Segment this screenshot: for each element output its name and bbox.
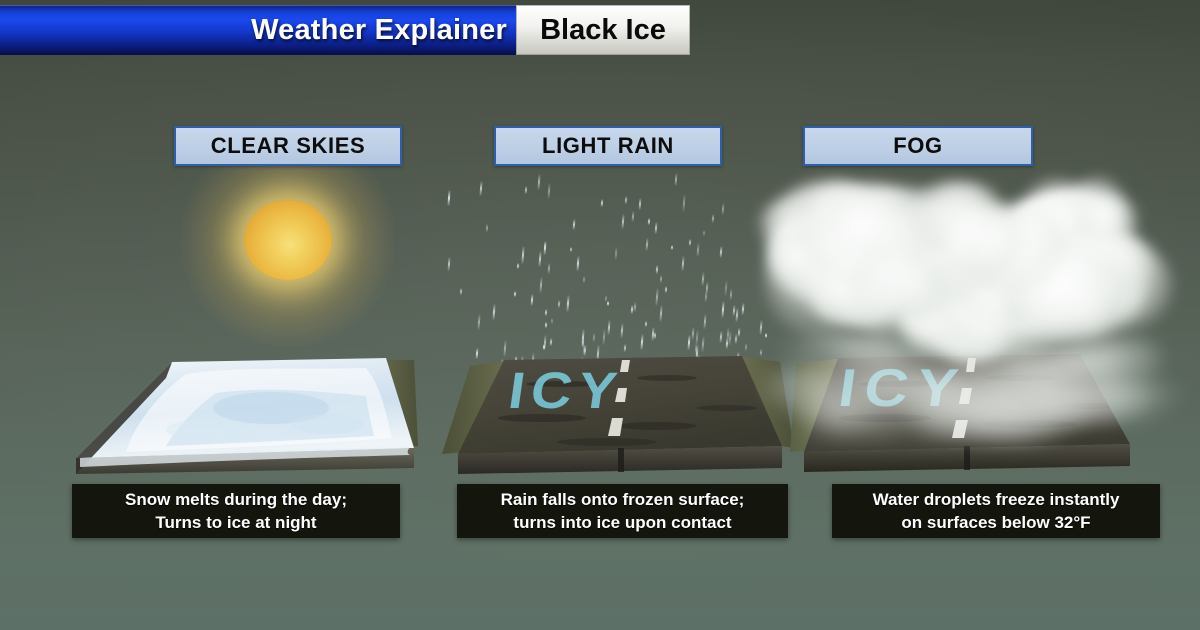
rain-drop	[530, 293, 533, 305]
fog-puff	[870, 240, 937, 292]
caption-line: turns into ice upon contact	[513, 511, 731, 534]
fog-puff	[966, 225, 1018, 274]
rain-drop	[648, 218, 650, 225]
fog-puff	[804, 191, 935, 288]
rain-drop	[656, 264, 659, 273]
rain-drop	[545, 322, 547, 328]
fog-puff	[818, 219, 903, 300]
rain-drop	[540, 277, 543, 293]
caption-line: Rain falls onto frozen surface;	[501, 488, 745, 511]
header-topic-label: Black Ice	[540, 14, 666, 47]
fog-puff	[1028, 222, 1114, 295]
fog-puff	[789, 195, 844, 240]
fog-puff	[1042, 229, 1090, 269]
rain-drop	[514, 291, 516, 297]
rain-drop	[486, 224, 489, 232]
fog-puff	[1022, 252, 1090, 306]
header-bar: Weather Explainer Black Ice	[0, 5, 1200, 55]
rain-drop	[659, 305, 662, 323]
rain-drop	[646, 238, 649, 251]
page-title: Weather Explainer	[251, 14, 516, 47]
rain-drop	[665, 286, 668, 294]
rain-drop	[704, 313, 707, 328]
fog-puff	[965, 206, 1066, 292]
fog-puff	[965, 267, 1031, 311]
fog-puff	[856, 206, 994, 314]
rain-drop	[692, 327, 695, 340]
rain-drop	[730, 289, 733, 300]
fog-puff	[765, 227, 890, 337]
fog-puff	[1010, 262, 1092, 320]
fog-puff	[928, 248, 1012, 301]
rain-drop	[675, 173, 678, 186]
caption-clear-skies: Snow melts during the day; Turns to ice …	[72, 484, 400, 538]
fog-puff	[810, 242, 896, 321]
rain-drop	[593, 333, 596, 342]
rain-drop	[645, 321, 647, 327]
rain-drop	[582, 276, 585, 284]
road-slab-icy-fog: ICY	[790, 340, 1180, 480]
rain-drop	[614, 247, 617, 260]
fog-puff	[1005, 303, 1052, 335]
fog-puff	[1006, 251, 1136, 341]
column-label-text: CLEAR SKIES	[211, 133, 366, 159]
rain-drop	[460, 288, 462, 295]
fog-puff	[975, 210, 1079, 310]
road-marking-icy: ICY	[505, 362, 627, 420]
fog-puff	[851, 250, 949, 320]
fog-puff	[880, 259, 932, 295]
rain-drop	[577, 256, 580, 271]
road-marking-icy: ICY	[835, 359, 970, 419]
fog-puff	[1003, 200, 1140, 297]
rain-drop	[720, 331, 723, 343]
road-slab-snow	[66, 348, 426, 483]
rain-drop	[538, 251, 541, 267]
fog-puff	[1036, 226, 1147, 329]
fog-puff	[1033, 189, 1130, 257]
rain-drop	[671, 245, 673, 250]
road-slab-icy-rain: ICY	[442, 348, 802, 483]
rain-drop	[632, 211, 635, 222]
rain-drop	[738, 328, 741, 338]
fog-puff	[1024, 180, 1094, 230]
fog-puff	[911, 255, 1028, 345]
fog-puff	[939, 249, 998, 287]
fog-puff	[834, 221, 927, 298]
rain-drop	[655, 288, 658, 306]
fog-puff	[1013, 196, 1111, 284]
rain-drop	[704, 291, 707, 302]
rain-drop	[688, 239, 690, 246]
fog-puff	[937, 204, 1023, 280]
rain-drop	[548, 263, 551, 274]
fog-puff	[969, 222, 1081, 302]
fog-puff	[1079, 195, 1138, 248]
fog-puff	[953, 247, 1088, 351]
fog-puff	[1045, 201, 1092, 245]
fog-puff	[809, 233, 884, 281]
caption-line: Water droplets freeze instantly	[873, 488, 1120, 511]
fog-puff	[1005, 197, 1119, 281]
fog-puff	[847, 213, 906, 265]
rain-drop	[639, 198, 642, 210]
rain-drop	[633, 302, 636, 312]
rain-drop	[493, 304, 496, 320]
fog-puff	[837, 281, 915, 331]
fog-puff	[1048, 223, 1118, 285]
fog-puff	[760, 200, 815, 248]
rain-drop	[735, 308, 738, 322]
fog-puff	[907, 195, 1019, 297]
rain-drop	[696, 330, 699, 346]
rain-drop	[551, 317, 553, 323]
fog-puff	[813, 255, 908, 325]
fog-puff	[774, 242, 821, 280]
fog-puff	[815, 224, 922, 318]
sun-icon	[206, 158, 370, 322]
rain-drop	[547, 183, 550, 199]
caption-fog: Water droplets freeze instantly on surfa…	[832, 484, 1160, 538]
header-blue-banner: Weather Explainer	[0, 5, 516, 55]
rain-drop	[525, 186, 528, 194]
fog-puff	[775, 214, 887, 295]
fog-puff	[902, 249, 953, 283]
column-label-light-rain: LIGHT RAIN	[494, 126, 722, 166]
rain-drop	[621, 214, 624, 229]
fog-puff	[999, 203, 1116, 307]
fog-puff	[923, 184, 1005, 241]
rain-drop	[660, 275, 663, 283]
rain-drop	[765, 333, 767, 339]
rain-drop	[732, 305, 735, 317]
fog-puff	[1057, 236, 1146, 297]
rain-drop	[601, 199, 604, 207]
rain-drop	[760, 320, 763, 335]
fog-puff	[1014, 206, 1117, 290]
caption-line: on surfaces below 32°F	[901, 511, 1090, 534]
rain-drop	[516, 263, 518, 270]
caption-light-rain: Rain falls onto frozen surface; turns in…	[457, 484, 788, 538]
column-label-clear-skies: CLEAR SKIES	[174, 126, 402, 166]
fog-puff	[1066, 262, 1116, 305]
rain-drop	[722, 301, 725, 318]
rain-drop	[621, 323, 624, 338]
rain-drop	[712, 214, 715, 223]
fog-puff	[1004, 201, 1099, 284]
fog-puff	[815, 184, 869, 226]
rain-drop	[478, 314, 481, 330]
column-label-fog: FOG	[803, 126, 1033, 166]
fog-puff	[1069, 290, 1113, 331]
fog-puff	[1016, 264, 1084, 319]
rain-drop	[522, 246, 525, 264]
fog-puff	[894, 256, 1004, 333]
column-label-text: LIGHT RAIN	[542, 133, 674, 159]
rain-drop	[655, 222, 658, 235]
sun-disc	[244, 200, 332, 280]
weather-explainer-graphic: Weather Explainer Black Ice CLEAR SKIES …	[0, 0, 1200, 630]
fog-puff	[781, 218, 884, 315]
fog-puff	[831, 182, 914, 260]
fog-puff	[795, 247, 873, 299]
fog-puff	[983, 197, 1101, 273]
fog-puff	[942, 258, 999, 302]
column-label-text: FOG	[893, 133, 942, 159]
caption-line: Snow melts during the day;	[125, 488, 347, 511]
rain-drop	[682, 193, 685, 211]
fog-puff	[767, 222, 849, 299]
fog-puff	[1077, 244, 1173, 329]
rain-drop	[701, 272, 704, 286]
rain-drop	[697, 243, 700, 257]
fog-puff	[900, 302, 947, 337]
rain-drop	[558, 300, 561, 308]
fog-puff	[815, 221, 903, 276]
fog-puff	[1102, 280, 1145, 315]
fog-puff	[991, 226, 1117, 341]
rain-drop	[570, 247, 572, 253]
rain-drop	[607, 301, 609, 306]
fog-puff	[1081, 234, 1157, 293]
rain-drop	[573, 219, 576, 230]
fog-puff	[985, 234, 1084, 321]
fog-puff	[767, 221, 825, 269]
rain-drop	[550, 338, 553, 346]
fog-puff	[996, 217, 1113, 313]
rain-drop	[448, 190, 451, 206]
rain-drop	[625, 196, 628, 204]
rain-drop	[653, 332, 655, 339]
fog-puff	[1031, 241, 1140, 341]
rain-drop	[703, 230, 705, 237]
fog-puff	[925, 243, 1021, 329]
fog-puff	[868, 222, 924, 269]
rain-drop	[447, 257, 450, 271]
rain-drop	[480, 181, 483, 196]
fog-puff	[838, 228, 953, 338]
rain-drop	[720, 246, 723, 259]
rain-drop	[566, 295, 569, 312]
rain-drop	[722, 203, 725, 215]
rain-drop	[545, 309, 547, 316]
rain-drop	[538, 174, 541, 190]
rain-drop	[724, 280, 727, 296]
rain-drop	[742, 303, 745, 315]
rain-drop	[607, 320, 610, 335]
fog-puff	[772, 181, 894, 260]
fog-puff	[1070, 178, 1125, 226]
fog-puff	[934, 219, 1056, 333]
fog-puff	[959, 265, 1041, 321]
fog-puff	[906, 182, 1004, 245]
rain-drop	[681, 256, 684, 271]
caption-line: Turns to ice at night	[155, 511, 316, 534]
rain-drop	[602, 329, 605, 345]
fog-puff	[846, 187, 951, 257]
header-topic-panel: Black Ice	[516, 5, 690, 55]
fog-puff	[813, 280, 866, 324]
